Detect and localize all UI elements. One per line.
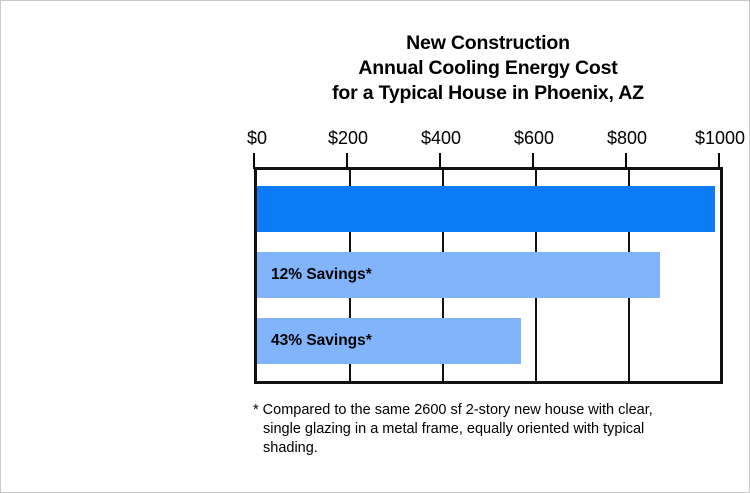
chart-title: New Construction Annual Cooling Energy C… — [251, 31, 725, 106]
chart-title-line-3: for a Typical House in Phoenix, AZ — [251, 81, 725, 106]
footnote: * Compared to the same 2600 sf 2-story n… — [253, 401, 733, 458]
x-tick-label-400: $400 — [421, 128, 461, 149]
bar-annotation-43-percent-savings: 43% Savings* — [271, 332, 372, 350]
bar-double-low-solar-gain-low-e[interactable]: 43% Savings* — [257, 318, 521, 364]
bar-annotation-12-percent-savings: 12% Savings* — [271, 266, 372, 284]
footnote-line-1: * Compared to the same 2600 sf 2-story n… — [253, 401, 733, 420]
x-tick-label-600: $600 — [514, 128, 554, 149]
footnote-line-2: single glazing in a metal frame, equally… — [253, 420, 733, 439]
x-tick-label-200: $200 — [328, 128, 368, 149]
chart-title-line-2: Annual Cooling Energy Cost — [251, 56, 725, 81]
x-tick-label-0: $0 — [247, 128, 267, 149]
footnote-line-3: shading. — [253, 439, 733, 458]
plot-area: 12% Savings* 43% Savings* — [254, 167, 723, 384]
bar-single-clear-metal-frame[interactable] — [257, 186, 715, 232]
x-tick-label-1000: $1000 — [695, 128, 745, 149]
chart-figure: New Construction Annual Cooling Energy C… — [0, 0, 750, 493]
chart-title-line-1: New Construction — [251, 31, 725, 56]
x-axis-tick-labels: $0 $200 $400 $600 $800 $1000 — [1, 128, 750, 152]
x-tick-label-800: $800 — [607, 128, 647, 149]
bar-double-clear-thermally-broken[interactable]: 12% Savings* — [257, 252, 660, 298]
